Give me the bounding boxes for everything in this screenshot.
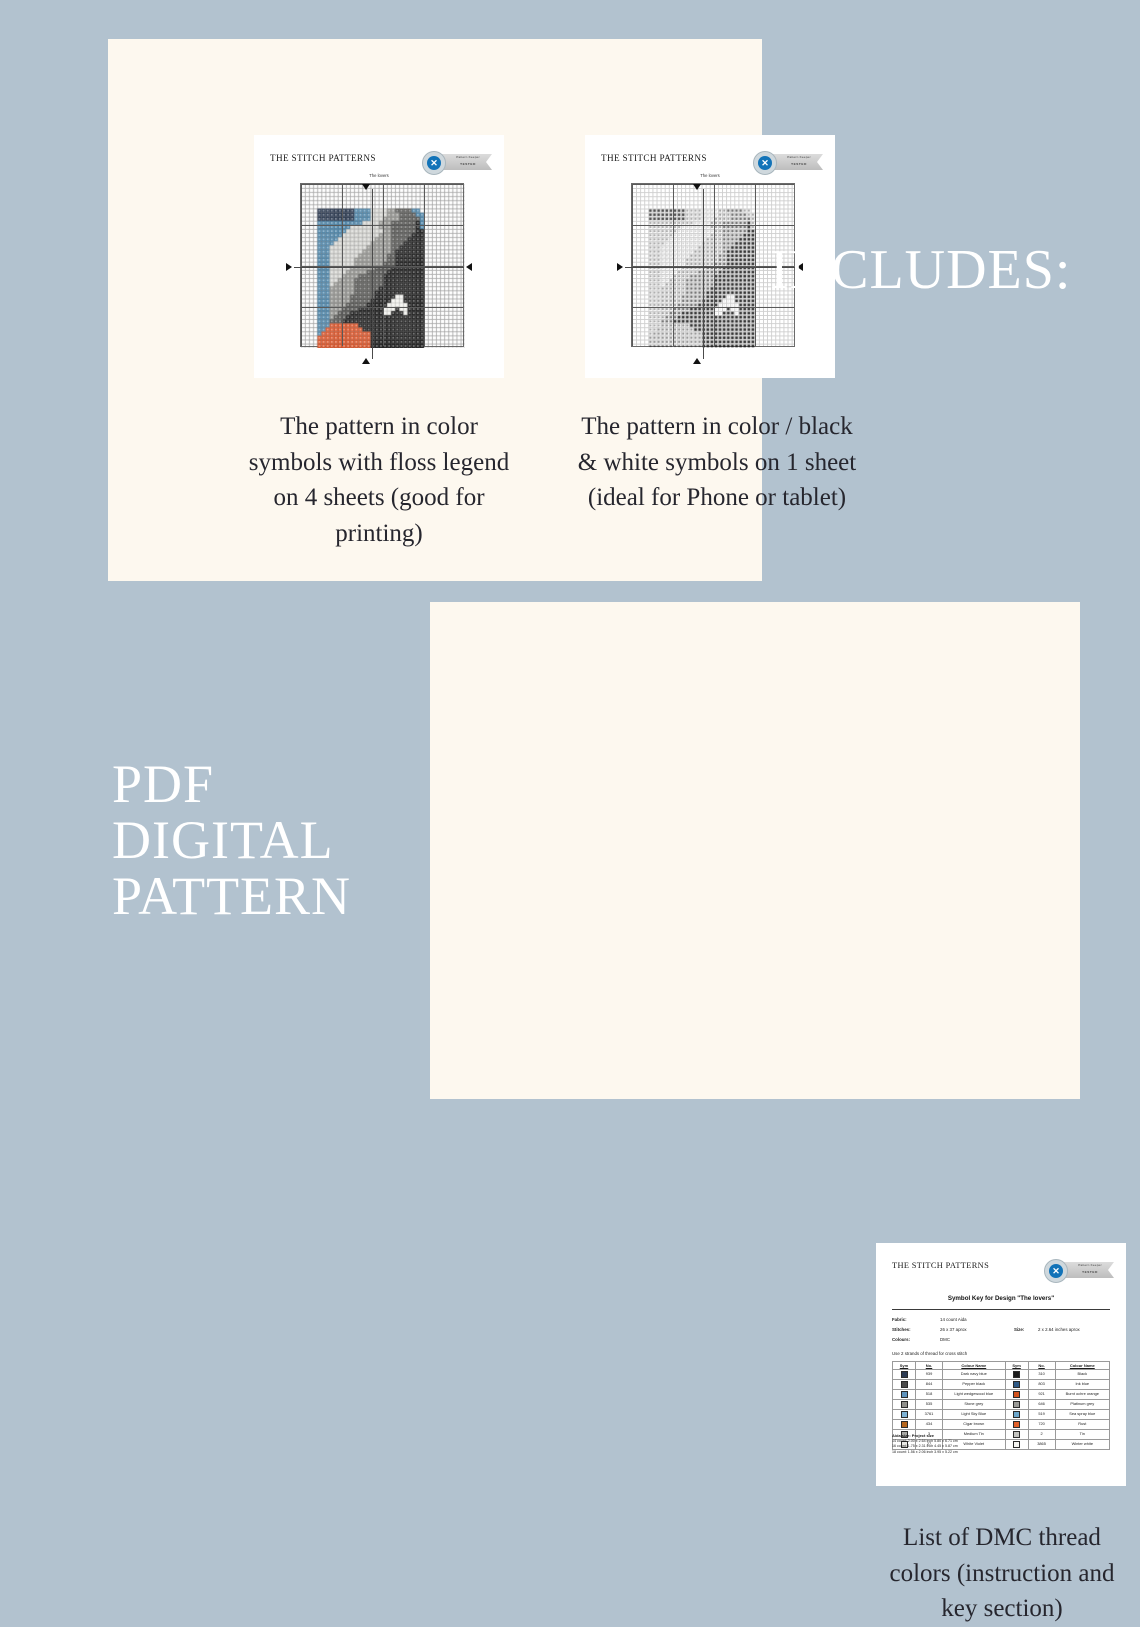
symbol-cell (893, 1370, 916, 1380)
badge-seal-icon: ✕ (1044, 1259, 1068, 1283)
table-row: 518Light wedgewood blue921Burnt ochre or… (893, 1390, 1110, 1400)
badge-x-icon: ✕ (758, 156, 772, 170)
pdf-line-2: DIGITAL (112, 812, 351, 868)
color-swatch (901, 1391, 908, 1398)
sheet-header: THE STITCH PATTERNS Pattern Keeper TESTE… (876, 1253, 1126, 1283)
aida-heading: Aida size: Project size (892, 1433, 934, 1438)
tick-left-icon (286, 263, 292, 271)
brand-title: THE STITCH PATTERNS (270, 153, 376, 163)
symbol-cell (1005, 1410, 1028, 1420)
symbol-key-title: Symbol Key for Design "The lovers" (876, 1295, 1126, 1302)
badge-x-icon: ✕ (427, 156, 441, 170)
color-swatch (1013, 1421, 1020, 1428)
symbol-cell (1005, 1380, 1028, 1390)
includes-heading: INCLUDES: (770, 238, 1071, 302)
meta-row-fabric: Fabric: 14 count Aida (892, 1317, 1110, 1327)
divider (892, 1309, 1110, 1310)
center-axis-vertical (703, 189, 704, 359)
floss-col-5: Colour Name (1055, 1362, 1109, 1370)
tick-top-icon (362, 184, 370, 190)
color-swatch (901, 1381, 908, 1388)
key-metadata: Fabric: 14 count Aida Stitches: 26 x 37 … (892, 1317, 1110, 1347)
pattern-keeper-badge: Pattern Keeper TESTED ✕ (420, 150, 492, 174)
table-row: 844Pepper black803Ink blue (893, 1380, 1110, 1390)
strands-note: Use 2 strands of thread for cross stitch (892, 1351, 967, 1356)
size-label: Size: (1014, 1327, 1024, 1332)
colours-label: Colours: (892, 1337, 910, 1342)
aida-line: 16 count: 1.75 x 2.31 inch 4.45 x 5.87 c… (892, 1444, 958, 1449)
pattern-keeper-badge: Pattern Keeper TESTED ✕ (751, 150, 823, 174)
table-row: 535Stone grey646Platinum grey (893, 1400, 1110, 1410)
symbol-cell (1005, 1390, 1028, 1400)
meta-row-colours: Colours: DMC (892, 1337, 1110, 1347)
symbol-cell (1005, 1400, 1028, 1410)
meta-row-stitches: Stitches: 26 x 37 aprox Size: 2 x 2.64 i… (892, 1327, 1110, 1337)
caption-bw-symbols: The pattern in color / black & white sym… (572, 409, 862, 516)
size-value: 2 x 2.64 inches aprox (1038, 1327, 1080, 1332)
color-swatch (901, 1371, 908, 1378)
color-swatch (1013, 1411, 1020, 1418)
stitch-grid-color (300, 183, 464, 347)
badge-text-line2: TESTED (446, 162, 490, 167)
aida-line: 18 count: 1.56 x 2.06 inch 3.95 x 5.22 c… (892, 1450, 958, 1455)
colours-value: DMC (940, 1337, 950, 1342)
poster-canvas: THE STITCH PATTERNS Pattern Keeper TESTE… (0, 0, 1140, 1158)
top-panel: THE STITCH PATTERNS Pattern Keeper TESTE… (108, 39, 762, 581)
pdf-line-3: PATTERN (112, 868, 351, 924)
floss-col-2: Colour Name (943, 1362, 1006, 1370)
color-swatch (901, 1411, 908, 1418)
bottom-panel: THE STITCH PATTERNS Pattern Keeper TESTE… (430, 602, 1080, 1099)
symbol-cell (893, 1410, 916, 1420)
caption-color-symbols: The pattern in color symbols with floss … (248, 409, 510, 551)
stitches-value: 26 x 37 aprox (940, 1327, 967, 1332)
brand-title: THE STITCH PATTERNS (892, 1261, 989, 1270)
color-swatch (1013, 1431, 1020, 1438)
floss-col-0: Sym (893, 1362, 916, 1370)
table-row: 3761Light Sky Blue519Sea spray blue (893, 1410, 1110, 1420)
symbol-cell (893, 1380, 916, 1390)
table-row: 434Cigar brown720Rust (893, 1420, 1110, 1430)
table-row: 939Dark navy blue310Black (893, 1370, 1110, 1380)
tick-bottom-icon (693, 358, 701, 364)
color-swatch (901, 1401, 908, 1408)
badge-text-line2: TESTED (777, 162, 821, 167)
fabric-label: Fabric: (892, 1317, 907, 1322)
sheet-color-pattern[interactable]: THE STITCH PATTERNS Pattern Keeper TESTE… (254, 135, 504, 378)
color-swatch (1013, 1381, 1020, 1388)
badge-text-line2: TESTED (1068, 1270, 1112, 1275)
chart-label: The lovers (615, 173, 805, 178)
badge-x-icon: ✕ (1049, 1264, 1063, 1278)
brand-title: THE STITCH PATTERNS (601, 153, 707, 163)
tick-top-icon (693, 184, 701, 190)
pdf-line-1: PDF (112, 756, 351, 812)
center-axis-horizontal (294, 267, 464, 268)
color-swatch (1013, 1371, 1020, 1378)
symbol-cell (893, 1420, 916, 1430)
symbol-cell (1005, 1430, 1028, 1440)
table-header-row: SymNo.Colour NameSymNo.Colour Name (893, 1362, 1110, 1370)
aida-size-block: Aida size: Project size 14 count: 2.00 x… (892, 1433, 958, 1455)
symbol-cell (893, 1400, 916, 1410)
symbol-cell (893, 1390, 916, 1400)
badge-text-line1: Pattern Keeper (446, 155, 490, 160)
badge-text-line1: Pattern Keeper (1068, 1263, 1112, 1268)
chart-label: The lovers (284, 173, 474, 178)
grid-major-lines (301, 184, 463, 346)
color-swatch (1013, 1391, 1020, 1398)
aida-lines: 14 count: 2.00 x 2.64 inch 5.80 x 6.71 c… (892, 1439, 958, 1455)
tick-bottom-icon (362, 358, 370, 364)
color-swatch (1013, 1441, 1020, 1448)
color-swatch (1013, 1401, 1020, 1408)
sheet-header: THE STITCH PATTERNS Pattern Keeper TESTE… (585, 145, 835, 175)
floss-col-3: Sym (1005, 1362, 1028, 1370)
symbol-cell (1005, 1420, 1028, 1430)
color-swatch (901, 1421, 908, 1428)
pattern-keeper-badge: Pattern Keeper TESTED ✕ (1042, 1258, 1114, 1282)
chart-area-color: The lovers (284, 183, 474, 365)
floss-col-1: No. (916, 1362, 943, 1370)
fabric-value: 14 count Aida (940, 1317, 967, 1322)
badge-seal-icon: ✕ (753, 151, 777, 175)
pdf-digital-pattern-heading: PDF DIGITAL PATTERN (112, 756, 351, 924)
symbol-cell (1005, 1370, 1028, 1380)
tick-left-icon (617, 263, 623, 271)
sheet-header: THE STITCH PATTERNS Pattern Keeper TESTE… (254, 145, 504, 175)
badge-seal-icon: ✕ (422, 151, 446, 175)
center-axis-vertical (372, 189, 373, 359)
tick-right-icon (466, 263, 472, 271)
badge-text-line1: Pattern Keeper (777, 155, 821, 160)
stitches-label: Stitches: (892, 1327, 911, 1332)
floss-col-4: No. (1028, 1362, 1055, 1370)
caption-dmc-list: List of DMC thread colors (instruction a… (878, 1520, 1126, 1627)
sheet-symbol-key[interactable]: THE STITCH PATTERNS Pattern Keeper TESTE… (876, 1243, 1126, 1486)
symbol-cell (1005, 1440, 1028, 1450)
